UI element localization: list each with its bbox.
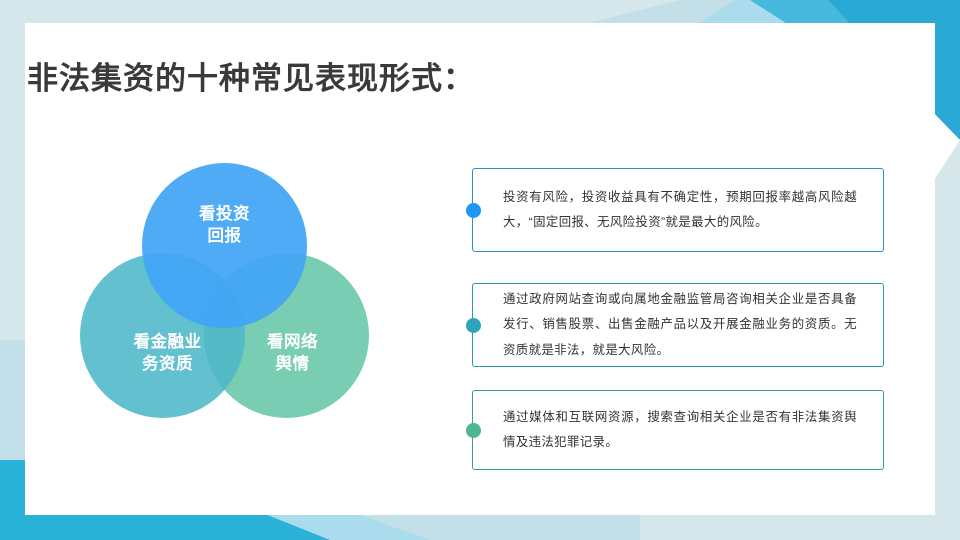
info-box-financial-qualification[interactable]: 通过政府网站查询或向属地金融监管局咨询相关企业是否具备发行、销售股票、出售金融产… bbox=[472, 283, 884, 367]
venn-label-network-sentiment: 看网络舆情 bbox=[267, 332, 318, 376]
bullet-dot-icon bbox=[466, 423, 481, 438]
page-title: 非法集资的十种常见表现形式： bbox=[27, 53, 475, 98]
venn-label-line-2: 务资质 bbox=[142, 355, 193, 373]
bullet-dot-icon bbox=[466, 318, 481, 333]
venn-label-investment-return: 看投资回报 bbox=[199, 204, 250, 248]
slide-canvas: 非法集资的十种常见表现形式： 看金融业务资质 看网络舆情 看投资回报 投资有风险… bbox=[0, 0, 960, 540]
venn-label-line-1: 看金融业 bbox=[134, 333, 202, 351]
venn-circle-investment-return[interactable]: 看投资回报 bbox=[142, 163, 307, 328]
venn-diagram: 看金融业务资质 看网络舆情 看投资回报 bbox=[80, 163, 370, 418]
venn-label-line-2: 舆情 bbox=[276, 355, 310, 373]
venn-label-line-1: 看网络 bbox=[267, 333, 318, 351]
info-box-investment-return[interactable]: 投资有风险，投资收益具有不确定性，预期回报率越高风险越大，“固定回报、无风险投资… bbox=[472, 168, 884, 252]
info-box-text: 通过政府网站查询或向属地金融监管局咨询相关企业是否具备发行、销售股票、出售金融产… bbox=[473, 287, 883, 363]
info-box-network-sentiment[interactable]: 通过媒体和互联网资源，搜索查询相关企业是否有非法集资舆情及违法犯罪记录。 bbox=[472, 390, 884, 470]
info-box-text: 通过媒体和互联网资源，搜索查询相关企业是否有非法集资舆情及违法犯罪记录。 bbox=[473, 405, 883, 456]
venn-label-financial-qualification: 看金融业务资质 bbox=[134, 332, 202, 376]
venn-label-line-1: 看投资 bbox=[199, 205, 250, 223]
venn-label-line-2: 回报 bbox=[208, 227, 242, 245]
bullet-dot-icon bbox=[466, 203, 481, 218]
info-box-text: 投资有风险，投资收益具有不确定性，预期回报率越高风险越大，“固定回报、无风险投资… bbox=[473, 185, 883, 236]
